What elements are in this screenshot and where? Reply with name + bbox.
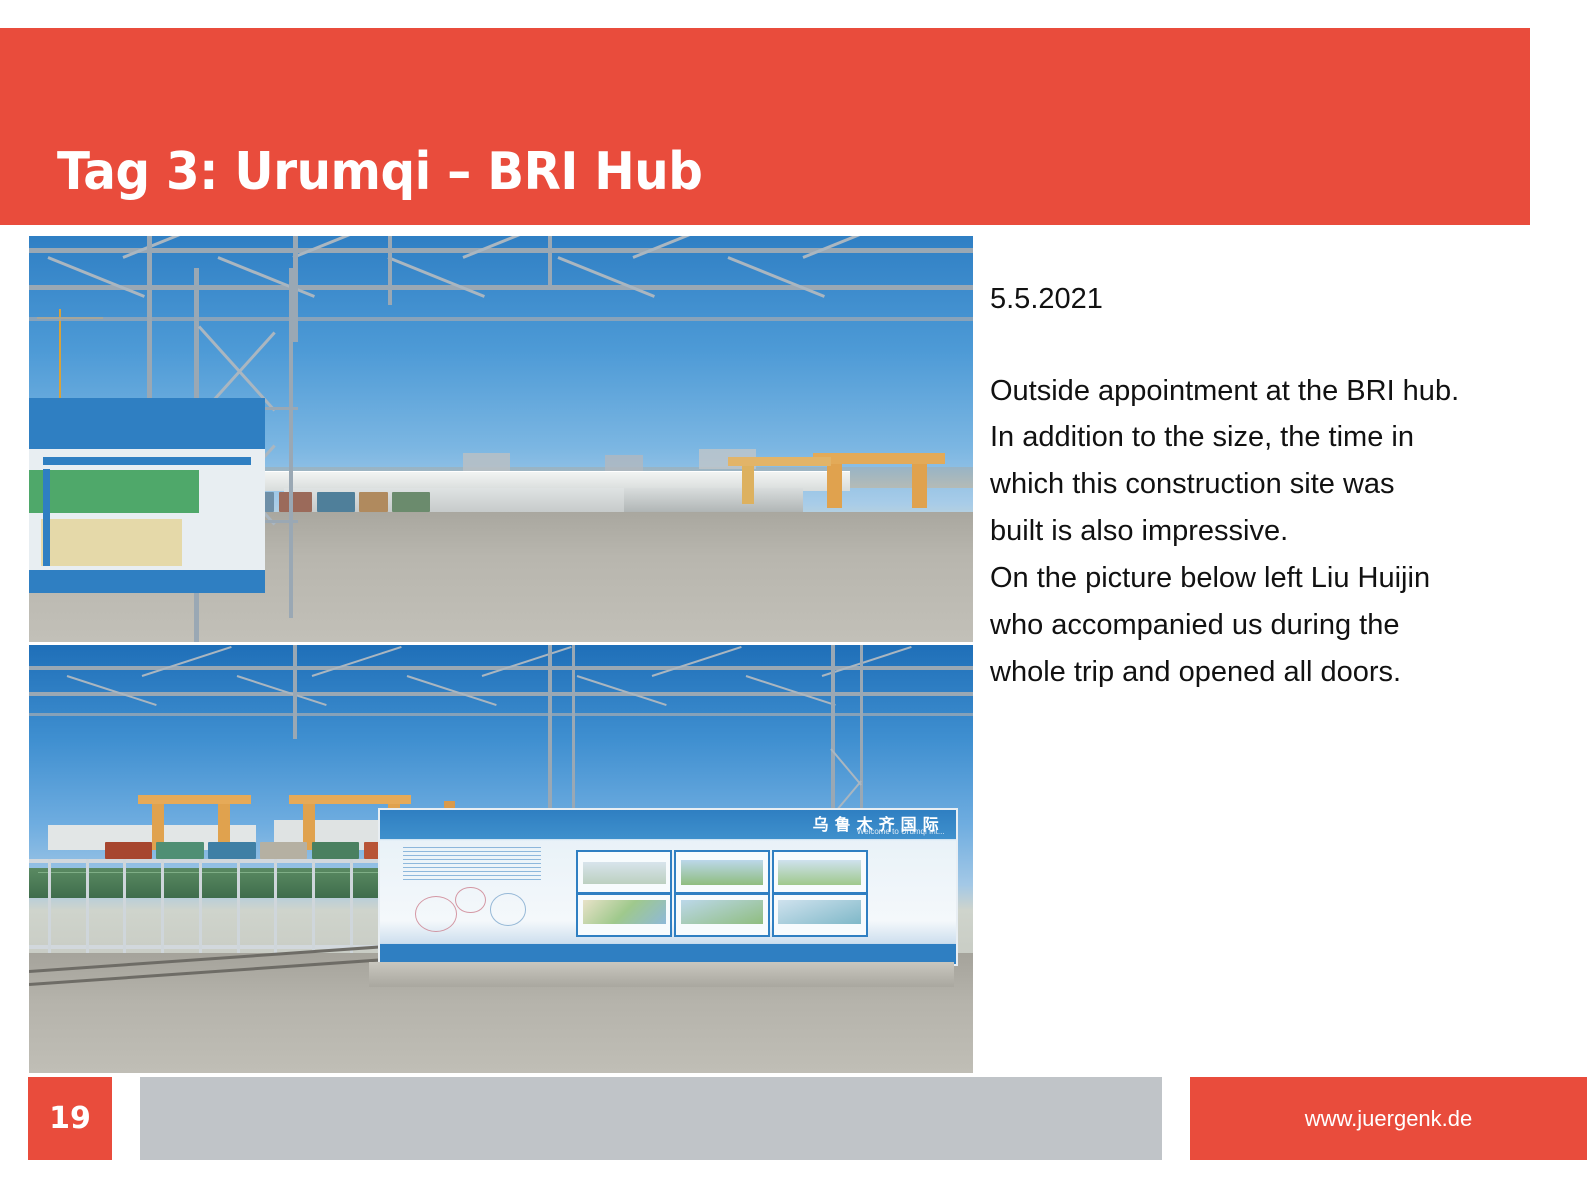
billboard-plinth xyxy=(369,962,954,988)
website-box[interactable]: www.juergenk.de xyxy=(1190,1077,1587,1160)
body-line-4: built is also impressive. xyxy=(990,515,1288,547)
page-number: 19 xyxy=(28,1077,112,1160)
billboard-diagram-2 xyxy=(455,887,486,914)
body-line-2: In addition to the size, the time in xyxy=(990,421,1414,453)
text-column: 5.5.2021 Outside appointment at the BRI … xyxy=(990,278,1535,696)
body-line-7: whole trip and opened all doors. xyxy=(990,656,1401,688)
body-text: Outside appointment at the BRI hub. In a… xyxy=(990,368,1535,697)
billboard-skyline xyxy=(380,944,956,964)
body-line-6: who accompanied us during the xyxy=(990,609,1399,641)
gantry-crane-beam-1 xyxy=(813,453,945,464)
gantry-beam-b xyxy=(289,795,412,804)
distant-building xyxy=(463,453,510,471)
body-line-1: Outside appointment at the BRI hub. xyxy=(990,375,1459,407)
page-title: Tag 3: Urumqi – BRI Hub xyxy=(57,146,702,198)
footer-gray-bar xyxy=(140,1077,1162,1160)
distant-building-2 xyxy=(605,455,643,471)
billboard-map-panel-5 xyxy=(674,893,770,937)
body-line-3: which this construction site was xyxy=(990,468,1395,500)
billboard-diagram-1 xyxy=(415,896,457,932)
slide-root: Tag 3: Urumqi – BRI Hub xyxy=(0,0,1587,1190)
photo-top xyxy=(29,236,973,642)
website-url[interactable]: www.juergenk.de xyxy=(1305,1106,1473,1132)
billboard-map-panel-2 xyxy=(674,850,770,894)
gantry-beam-a xyxy=(138,795,251,804)
gantry-beam-c xyxy=(435,797,511,806)
billboard-map-panel-6 xyxy=(772,893,868,937)
date-text: 5.5.2021 xyxy=(990,278,1535,322)
billboard-diagram-3 xyxy=(490,893,527,926)
left-billboard xyxy=(29,398,265,593)
welcome-billboard: 乌鲁木齐国际 Welcome to Urumqi Int... xyxy=(378,808,958,966)
billboard-map-panel-1 xyxy=(576,850,672,894)
tower-crane-mast xyxy=(59,309,61,398)
billboard-text-block xyxy=(403,847,541,881)
billboard-map-panel-3 xyxy=(772,850,868,894)
body-line-5: On the picture below left Liu Huijin xyxy=(990,562,1430,594)
title-banner: Tag 3: Urumqi – BRI Hub xyxy=(0,28,1530,225)
page-number-box: 19 xyxy=(28,1077,112,1160)
billboard-map-panel-4 xyxy=(576,893,672,937)
billboard-title-en: Welcome to Urumqi Int... xyxy=(857,827,945,836)
gantry-crane-beam-2 xyxy=(728,457,832,466)
photo-bottom: 乌鲁木齐国际 Welcome to Urumqi Int... xyxy=(29,645,973,1073)
